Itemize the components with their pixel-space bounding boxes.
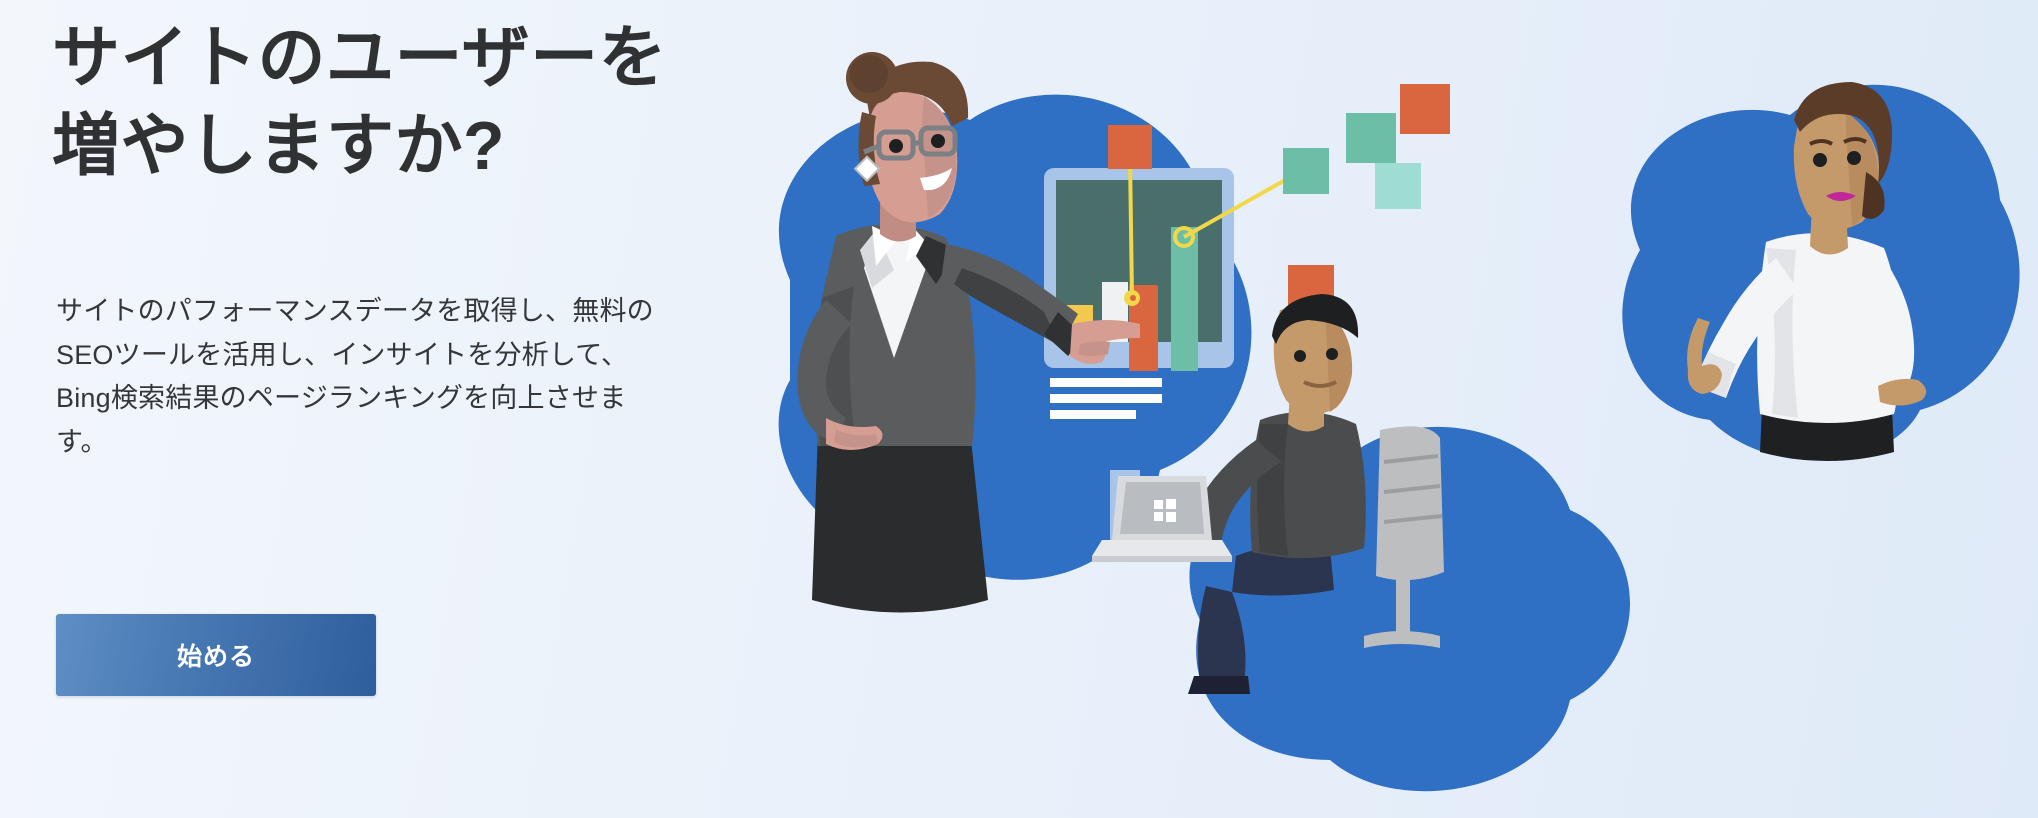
page-title: サイトのユーザーを増やしますか? [52,14,712,191]
hero-banner: サイトのユーザーを増やしますか? サイトのパフォーマンスデータを取得し、無料のS… [0,0,2038,818]
hero-illustration [640,0,2038,818]
hero-copy: サイトのユーザーを増やしますか? サイトのパフォーマンスデータを取得し、無料のS… [52,0,712,818]
hero-description: サイトのパフォーマンスデータを取得し、無料のSEOツールを活用し、インサイトを分… [56,290,666,465]
get-started-button[interactable]: 始める [56,614,376,696]
